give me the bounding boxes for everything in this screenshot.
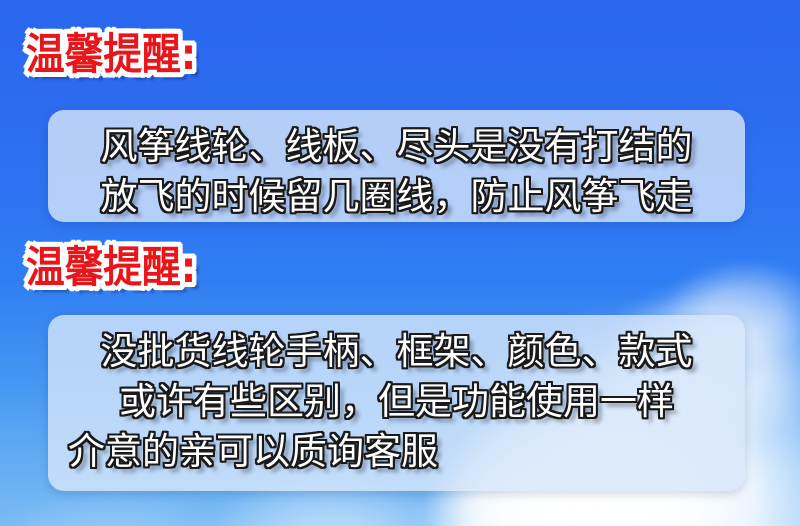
notice-panel-2: 没批货线轮手柄、框架、颜色、款式 或许有些区别，但是功能使用一样 介意的亲可以质…: [48, 315, 745, 491]
notice-line: 风筝线轮、线板、尽头是没有打结的: [66, 122, 727, 172]
notice-block-2: 温馨提醒:: [0, 247, 800, 299]
notice-stack: 温馨提醒: 风筝线轮、线板、尽头是没有打结的 放飞的时候留几圈线，防止风筝飞走 …: [0, 0, 800, 526]
notice-heading-2: 温馨提醒:: [26, 247, 196, 290]
notice-line: 或许有些区别，但是功能使用一样: [66, 377, 727, 427]
notice-heading-1: 温馨提醒:: [26, 34, 196, 77]
notice-panel-1: 风筝线轮、线板、尽头是没有打结的 放飞的时候留几圈线，防止风筝飞走: [48, 110, 745, 222]
notice-block-1: 温馨提醒:: [0, 34, 800, 86]
notice-line: 放飞的时候留几圈线，防止风筝飞走: [66, 172, 727, 222]
promo-banner: 温馨提醒: 风筝线轮、线板、尽头是没有打结的 放飞的时候留几圈线，防止风筝飞走 …: [0, 0, 800, 526]
notice-line: 没批货线轮手柄、框架、颜色、款式: [66, 327, 727, 377]
notice-line: 介意的亲可以质询客服: [66, 427, 727, 477]
